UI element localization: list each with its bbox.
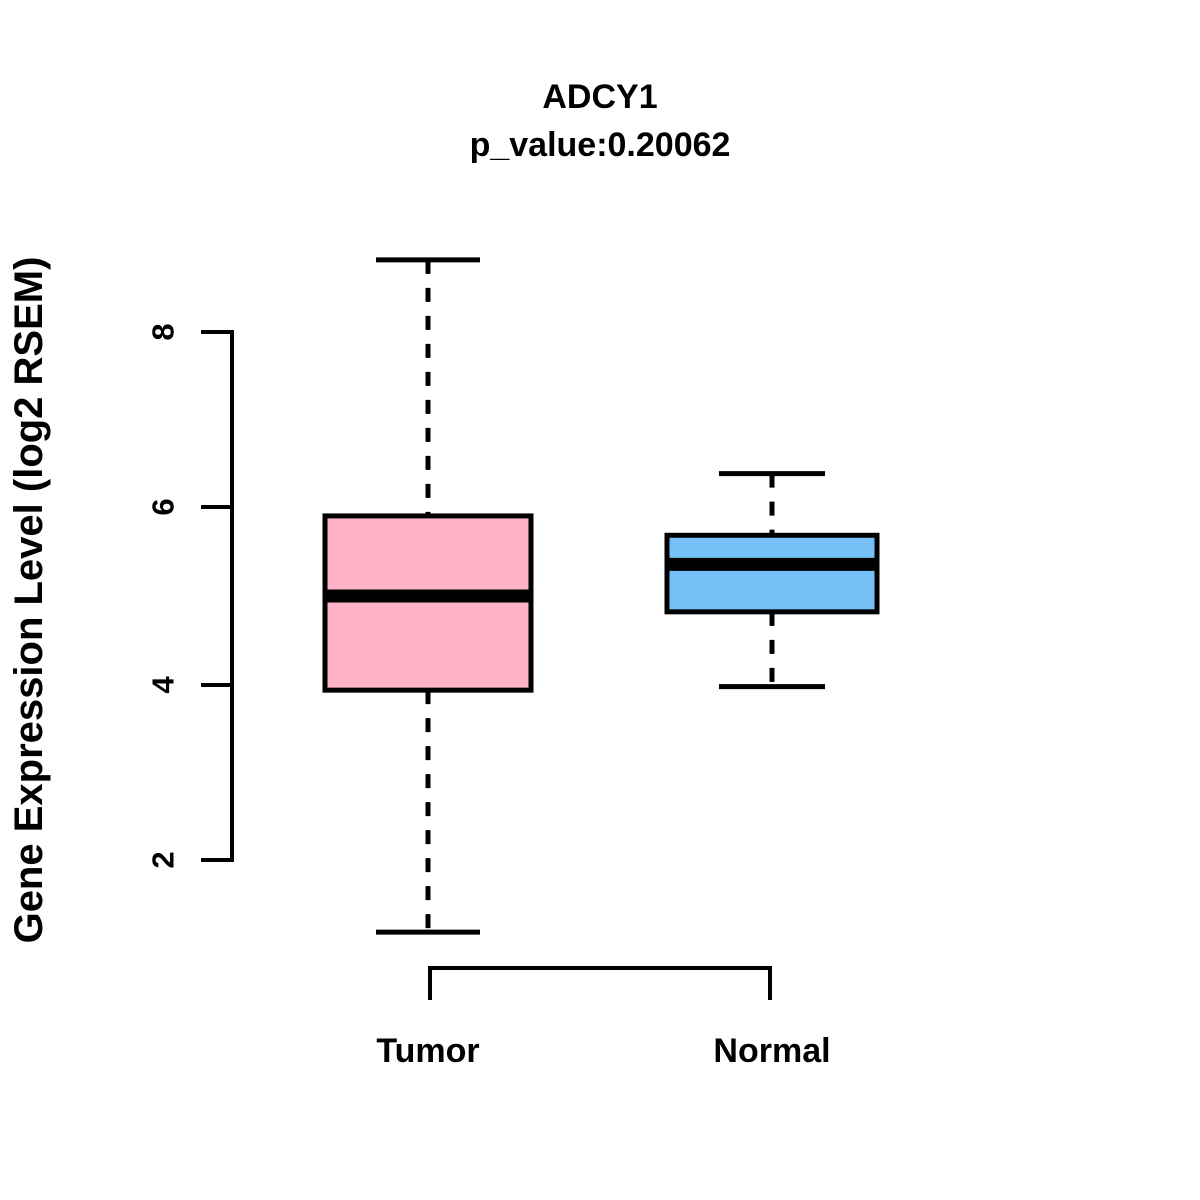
chart-title: ADCY1 xyxy=(542,78,657,116)
x-tick-label-tumor: Tumor xyxy=(376,1032,479,1070)
chart-subtitle-pvalue: p_value:0.20062 xyxy=(470,126,731,164)
y-axis-label: Gene Expression Level (log2 RSEM) xyxy=(7,257,51,944)
y-tick-label-4: 4 xyxy=(146,676,181,694)
boxplot-figure: ADCY1 p_value:0.20062 Gene Expression Le… xyxy=(0,0,1200,1200)
x-axis xyxy=(428,968,772,1000)
y-tick-label-6: 6 xyxy=(146,498,181,515)
boxplot-normal[interactable] xyxy=(665,474,879,687)
y-tick-label-8: 8 xyxy=(146,323,181,340)
boxplot-tumor[interactable] xyxy=(323,260,533,932)
y-tick-label-2: 2 xyxy=(146,851,181,868)
y-axis xyxy=(201,330,232,862)
x-tick-label-normal: Normal xyxy=(713,1032,830,1070)
box-iqr[interactable] xyxy=(325,516,531,690)
box-iqr[interactable] xyxy=(667,535,877,612)
